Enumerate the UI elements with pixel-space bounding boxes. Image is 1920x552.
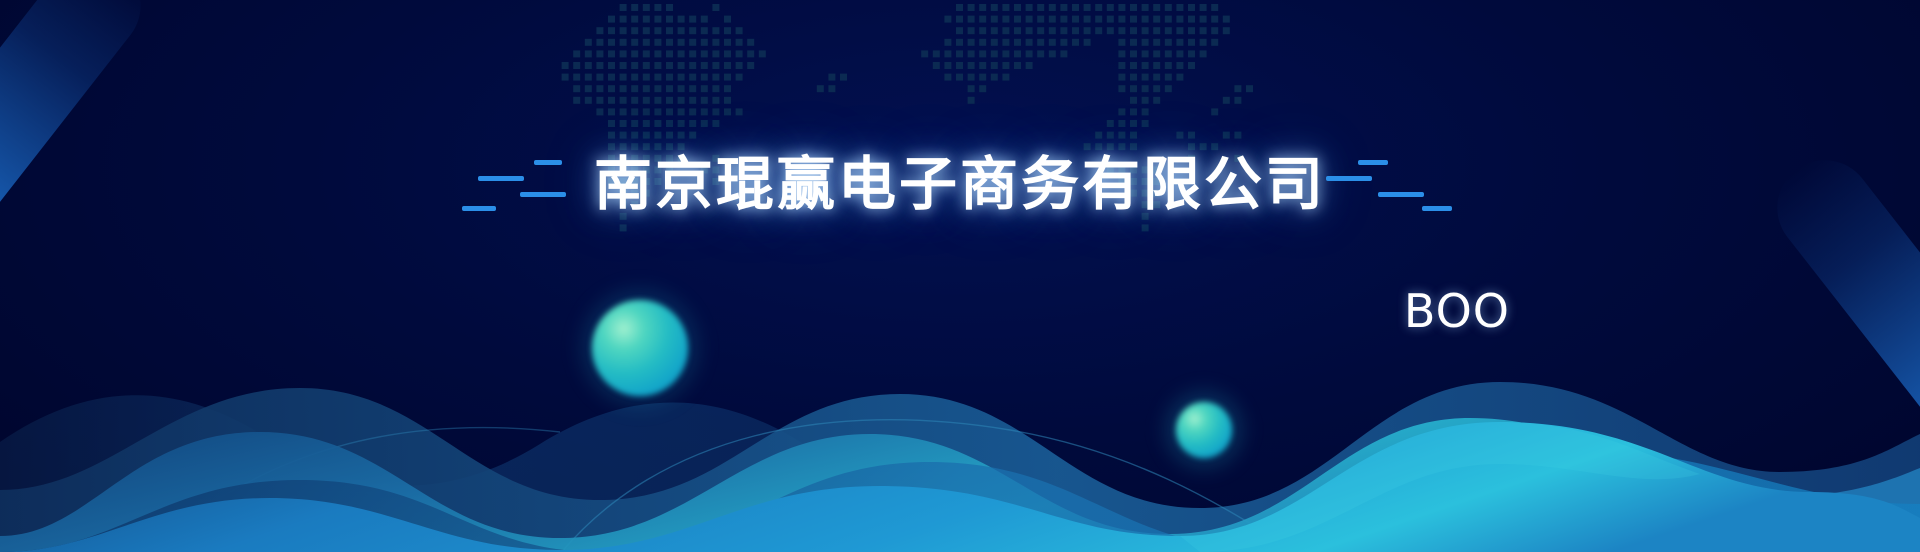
dash-left-1 — [534, 160, 562, 165]
banner-alt-text: 南京琨赢电子商务有限公司 BOO — [0, 0, 1, 1]
wave-front — [0, 422, 1920, 552]
dash-left-2 — [478, 176, 524, 181]
wave-back-far — [0, 395, 810, 552]
wave-deep — [0, 450, 1920, 552]
dash-right-2 — [1326, 176, 1372, 181]
wave-layers — [0, 322, 1920, 552]
dash-right-1 — [1358, 160, 1388, 165]
comet-streak-left — [0, 0, 160, 281]
dash-left-4 — [462, 206, 496, 211]
dash-decoration-left — [462, 148, 594, 220]
title-block: 南京琨赢电子商务有限公司 — [0, 148, 1920, 225]
wave-mid — [0, 418, 1920, 552]
wave-front-sheen — [1180, 422, 1700, 552]
company-title: 南京琨赢电子商务有限公司 — [594, 149, 1326, 219]
dash-right-4 — [1422, 206, 1452, 211]
dash-decoration-right — [1326, 148, 1458, 220]
subtitle-boo: BOO — [1404, 284, 1510, 338]
dash-left-3 — [520, 192, 566, 197]
wave-back — [0, 382, 1920, 552]
subtitle-line: BOO — [0, 284, 1920, 338]
world-map-dot-matrix — [0, 0, 1920, 552]
dash-right-3 — [1378, 192, 1424, 197]
company-banner: 南京琨赢电子商务有限公司 BOO — [0, 0, 1920, 552]
wave-arc-line-right — [150, 428, 560, 552]
glowing-orb-small — [1176, 402, 1232, 458]
subtitle-inner: BOO — [410, 284, 1510, 338]
title-row: 南京琨赢电子商务有限公司 — [462, 148, 1458, 220]
orb-small-core — [1176, 402, 1232, 458]
